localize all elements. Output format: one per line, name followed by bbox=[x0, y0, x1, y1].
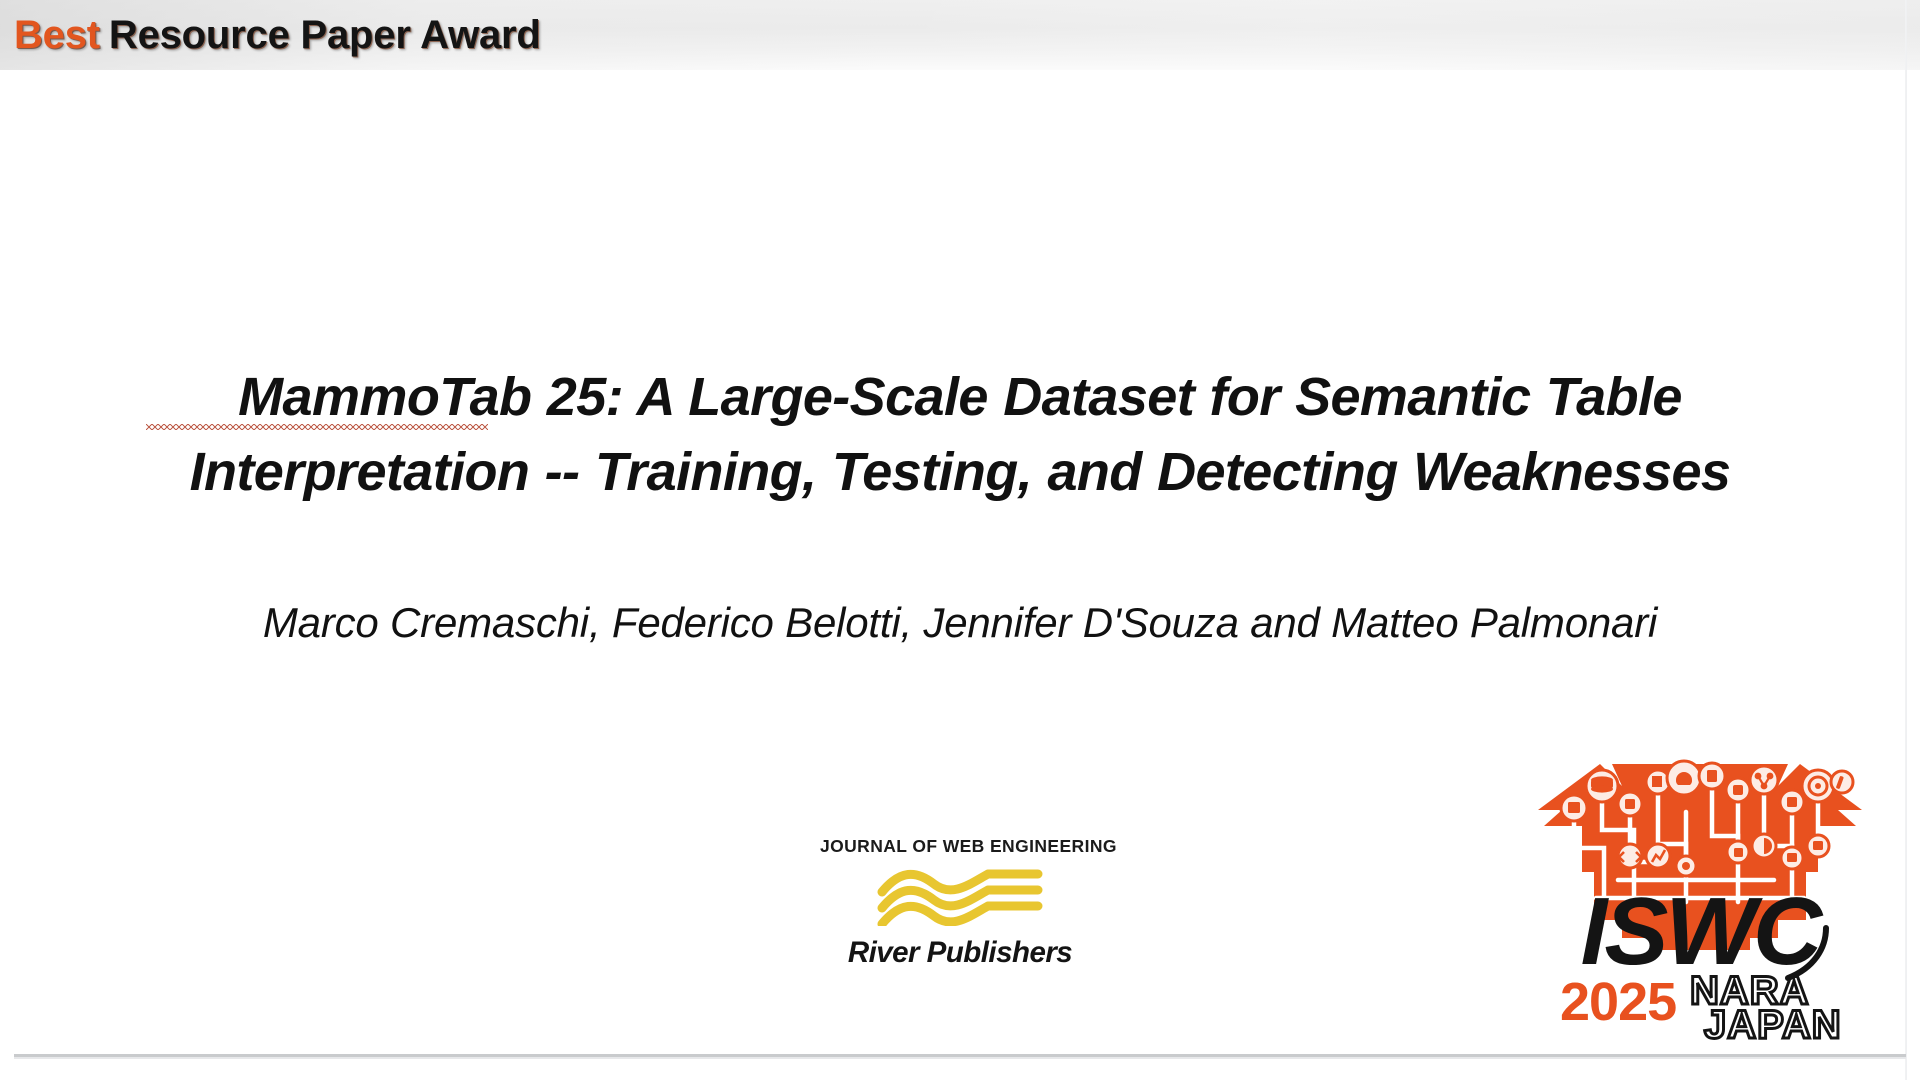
river-publishers-logo: JOURNAL OF WEB ENGINEERING River Publish… bbox=[820, 836, 1100, 974]
iswc-country: JAPAN bbox=[1704, 1003, 1842, 1042]
award-banner-highlight-word: Best bbox=[14, 15, 100, 55]
iswc-2025-nara-japan-logo: ISWC 2025 NARA JAPAN bbox=[1526, 752, 1874, 1042]
title-block: MammoTab 25: A Large-Scale Dataset for S… bbox=[130, 360, 1790, 510]
award-banner-text: Resource Paper Award bbox=[109, 15, 541, 55]
spellcheck-squiggle-underline bbox=[146, 424, 488, 430]
river-waves-icon bbox=[820, 864, 1100, 926]
page-title: MammoTab 25: A Large-Scale Dataset for S… bbox=[130, 360, 1790, 510]
best-resource-paper-award-banner: Best Resource Paper Award bbox=[0, 0, 1920, 70]
iswc-year: 2025 bbox=[1560, 972, 1676, 1032]
slide-right-edge bbox=[1905, 0, 1907, 1080]
svg-text:River Publishers: River Publishers bbox=[848, 936, 1072, 969]
slide-bottom-rule-shadow bbox=[14, 1057, 1906, 1059]
presentation-slide: Best Resource Paper Award MammoTab 25: A… bbox=[0, 0, 1920, 1080]
author-list: Marco Cremaschi, Federico Belotti, Jenni… bbox=[130, 598, 1790, 648]
journal-of-web-engineering-label: JOURNAL OF WEB ENGINEERING bbox=[820, 836, 1100, 857]
river-publishers-wordmark: River Publishers bbox=[820, 935, 1100, 969]
